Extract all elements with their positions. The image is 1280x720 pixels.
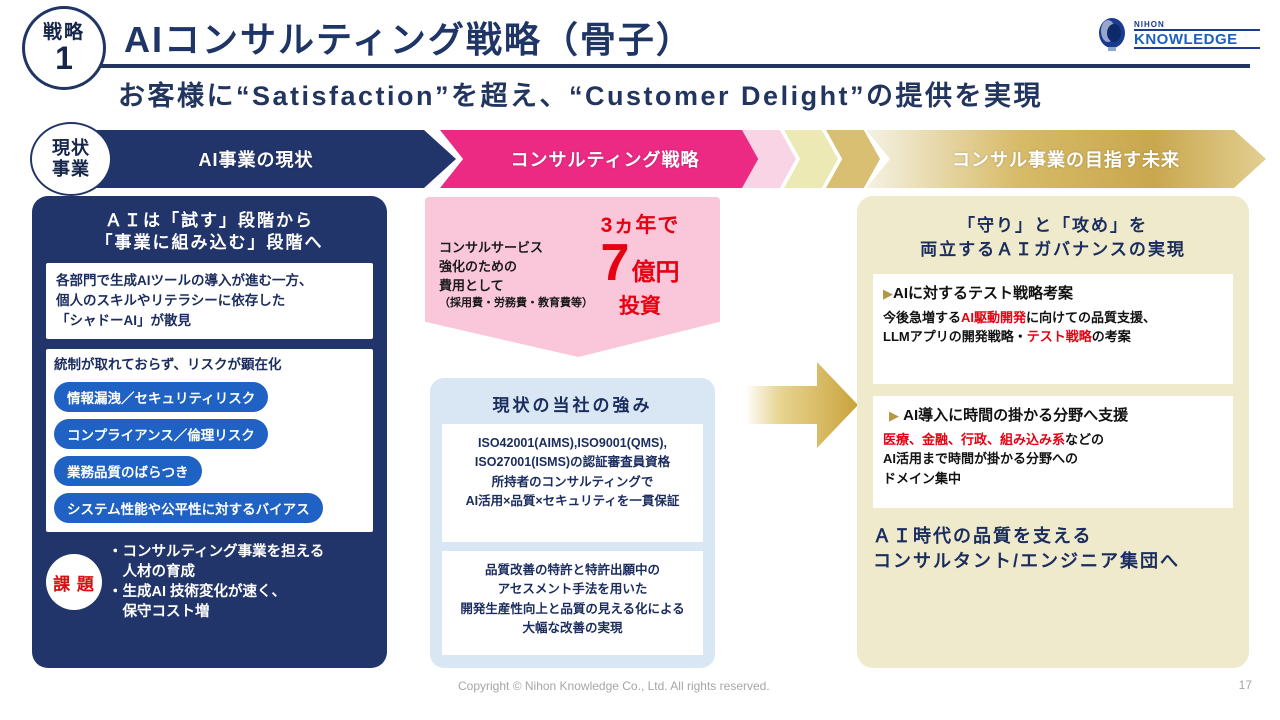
right-panel-footer: ＡＩ時代の品質を支える コンサルタント/エンジニア集団へ: [873, 524, 1233, 574]
band-step-current: AI事業の現状: [56, 130, 456, 188]
band-step-future-label: コンサル事業の目指す未来: [952, 146, 1180, 172]
item2-title: AI導入に時間の掛かる分野へ支援: [903, 407, 1128, 424]
svg-text:NIHON: NIHON: [1134, 20, 1165, 29]
risk-pill-2: 業務品質のばらつき: [54, 456, 202, 486]
strengths-box1-text: ISO42001(AIMS),ISO9001(QMS), ISO27001(IS…: [448, 434, 697, 512]
item2-body: 医療、金融、行政、組み込み系などの AI活用まで時間が掛かる分野への ドメイン集…: [883, 430, 1223, 488]
strategy-badge: 戦略 1: [22, 6, 106, 90]
triangle-bullet-icon: ▶: [883, 286, 893, 301]
item2-body-c: ドメイン集中: [883, 471, 961, 486]
risk-pill: 情報漏洩／セキュリティリスク: [54, 375, 365, 412]
item1-body-highlight-1: AI駆動開発: [961, 310, 1026, 325]
risk-pill-0: 情報漏洩／セキュリティリスク: [54, 382, 268, 412]
issues-badge: 課 題: [46, 554, 102, 610]
page-subtitle: お客様に“Satisfaction”を超え、“Customer Delight”…: [118, 74, 1043, 113]
risk-pill: システム性能や公平性に対するバイアス: [54, 486, 365, 523]
issues-text: ・コンサルティング事業を担える 人材の育成 ・生成AI 技術変化が速く、 保守コ…: [108, 542, 324, 622]
strengths-panel: 現状の当社の強み ISO42001(AIMS),ISO9001(QMS), IS…: [430, 378, 715, 668]
band-step-strategy-label: コンサルティング戦略: [511, 146, 700, 172]
item1-body-c: LLMアプリの開発戦略・: [883, 329, 1027, 344]
item2-body-a: などの: [1065, 432, 1104, 447]
investment-purpose-note: （採用費・労務費・教育費等）: [439, 296, 593, 312]
investment-amount-unit: 億円: [631, 252, 679, 287]
risk-pill-1: コンプライアンス／倫理リスク: [54, 419, 268, 449]
item1-body: 今後急増するAI駆動開発に向けての品質支援、 LLMアプリの開発戦略・テスト戦略…: [883, 308, 1223, 346]
title-divider: [60, 64, 1250, 68]
strategy-badge-label: 戦略: [43, 23, 85, 42]
left-panel-box1-text: 各部門で生成AIツールの導入が進む一方、 個人のスキルやリテラシーに依存した 「…: [56, 271, 363, 332]
right-panel-heading-line2: 両立するＡＩガバナンスの実現: [873, 238, 1233, 262]
investment-purpose: コンサルサービス 強化のための 費用として （採用費・労務費・教育費等）: [439, 239, 593, 311]
right-panel-item-domain-support: ▶ AI導入に時間の掛かる分野へ支援 医療、金融、行政、組み込み系などの AI活…: [873, 396, 1233, 508]
strengths-heading: 現状の当社の強み: [442, 391, 703, 416]
process-band: AI事業の現状 コンサルティング戦略 コンサル事業の目指す未来 現状 事業: [0, 130, 1280, 192]
item1-body-b: に向けての品質支援、: [1026, 310, 1156, 325]
right-panel: 「守り」と「攻め」を 両立するＡＩガバナンスの実現 ▶AIに対するテスト戦略考案…: [857, 196, 1249, 668]
risk-pill-3: システム性能や公平性に対するバイアス: [54, 493, 323, 523]
item1-title-row: ▶AIに対するテスト戦略考案: [883, 283, 1223, 304]
item1-title: AIに対するテスト戦略考案: [893, 285, 1073, 302]
left-panel-heading-line1: ＡＩは「試す」段階から: [46, 210, 373, 232]
transition-arrow-icon: [745, 358, 860, 453]
triangle-bullet-icon: ▶: [889, 408, 899, 423]
item1-body-highlight-2: テスト戦略: [1027, 329, 1092, 344]
strengths-box-patent: 品質改善の特許と特許出願中の アセスメント手法を用いた 開発生産性向上と品質の見…: [442, 551, 703, 655]
investment-period: 3ヵ年で: [572, 209, 708, 239]
nihon-knowledge-logo: NIHON KNOWLEDGE: [1094, 14, 1264, 54]
svg-text:KNOWLEDGE: KNOWLEDGE: [1134, 31, 1238, 48]
band-step-current-label: AI事業の現状: [199, 146, 314, 172]
investment-purpose-line2: 強化のための: [439, 258, 593, 277]
strategy-badge-number: 1: [55, 43, 73, 73]
item2-body-highlight: 医療、金融、行政、組み込み系: [883, 432, 1065, 447]
item1-body-d: の考案: [1092, 329, 1131, 344]
investment-purpose-line3: 費用として: [439, 277, 593, 296]
investment-banner: コンサルサービス 強化のための 費用として （採用費・労務費・教育費等） 3ヵ年…: [425, 197, 720, 357]
investment-amount-row: 7 億円: [572, 239, 708, 288]
investment-amount: 7: [601, 239, 630, 288]
current-business-badge: 現状 事業: [30, 122, 112, 196]
left-panel-heading-line2: 「事業に組み込む」段階へ: [46, 232, 373, 254]
page-number: 17: [1239, 678, 1252, 692]
issues-row: 課 題 ・コンサルティング事業を担える 人材の育成 ・生成AI 技術変化が速く、…: [46, 542, 373, 622]
copyright-text: Copyright © Nihon Knowledge Co., Ltd. Al…: [458, 679, 770, 693]
right-panel-footer-line1: ＡＩ時代の品質を支える: [873, 524, 1233, 549]
band-step-strategy: コンサルティング戦略: [440, 130, 770, 188]
risk-pill: 業務品質のばらつき: [54, 449, 365, 486]
current-business-badge-line1: 現状: [52, 138, 90, 159]
right-panel-heading: 「守り」と「攻め」を 両立するＡＩガバナンスの実現: [873, 214, 1233, 262]
investment-figure: 3ヵ年で 7 億円 投資: [572, 209, 708, 320]
left-panel-box-shadow-ai: 各部門で生成AIツールの導入が進む一方、 個人のスキルやリテラシーに依存した 「…: [46, 263, 373, 339]
investment-word: 投資: [572, 290, 708, 320]
strengths-box-iso: ISO42001(AIMS),ISO9001(QMS), ISO27001(IS…: [442, 424, 703, 542]
left-panel: ＡＩは「試す」段階から 「事業に組み込む」段階へ 各部門で生成AIツールの導入が…: [32, 196, 387, 668]
risk-pill: コンプライアンス／倫理リスク: [54, 412, 365, 449]
right-panel-item-test-strategy: ▶AIに対するテスト戦略考案 今後急増するAI駆動開発に向けての品質支援、 LL…: [873, 274, 1233, 384]
right-panel-heading-line1: 「守り」と「攻め」を: [873, 214, 1233, 238]
current-business-badge-line2: 事業: [52, 159, 90, 180]
item2-title-row: ▶ AI導入に時間の掛かる分野へ支援: [883, 405, 1223, 426]
investment-purpose-line1: コンサルサービス: [439, 239, 593, 258]
page-title: AIコンサルティング戦略（骨子）: [124, 11, 694, 63]
left-panel-heading: ＡＩは「試す」段階から 「事業に組み込む」段階へ: [46, 210, 373, 255]
slide-root: 戦略 1 AIコンサルティング戦略（骨子） お客様に“Satisfaction”…: [0, 0, 1280, 720]
item2-body-b: AI活用まで時間が掛かる分野への: [883, 451, 1078, 466]
left-panel-box2-title: 統制が取れておらず、リスクが顕在化: [54, 355, 365, 375]
strengths-box2-text: 品質改善の特許と特許出願中の アセスメント手法を用いた 開発生産性向上と品質の見…: [448, 561, 697, 639]
left-panel-box-risks: 統制が取れておらず、リスクが顕在化 情報漏洩／セキュリティリスク コンプライアン…: [46, 349, 373, 532]
band-step-future: コンサル事業の目指す未来: [866, 130, 1266, 188]
right-panel-footer-line2: コンサルタント/エンジニア集団へ: [873, 549, 1233, 574]
item1-body-a: 今後急増する: [883, 310, 961, 325]
